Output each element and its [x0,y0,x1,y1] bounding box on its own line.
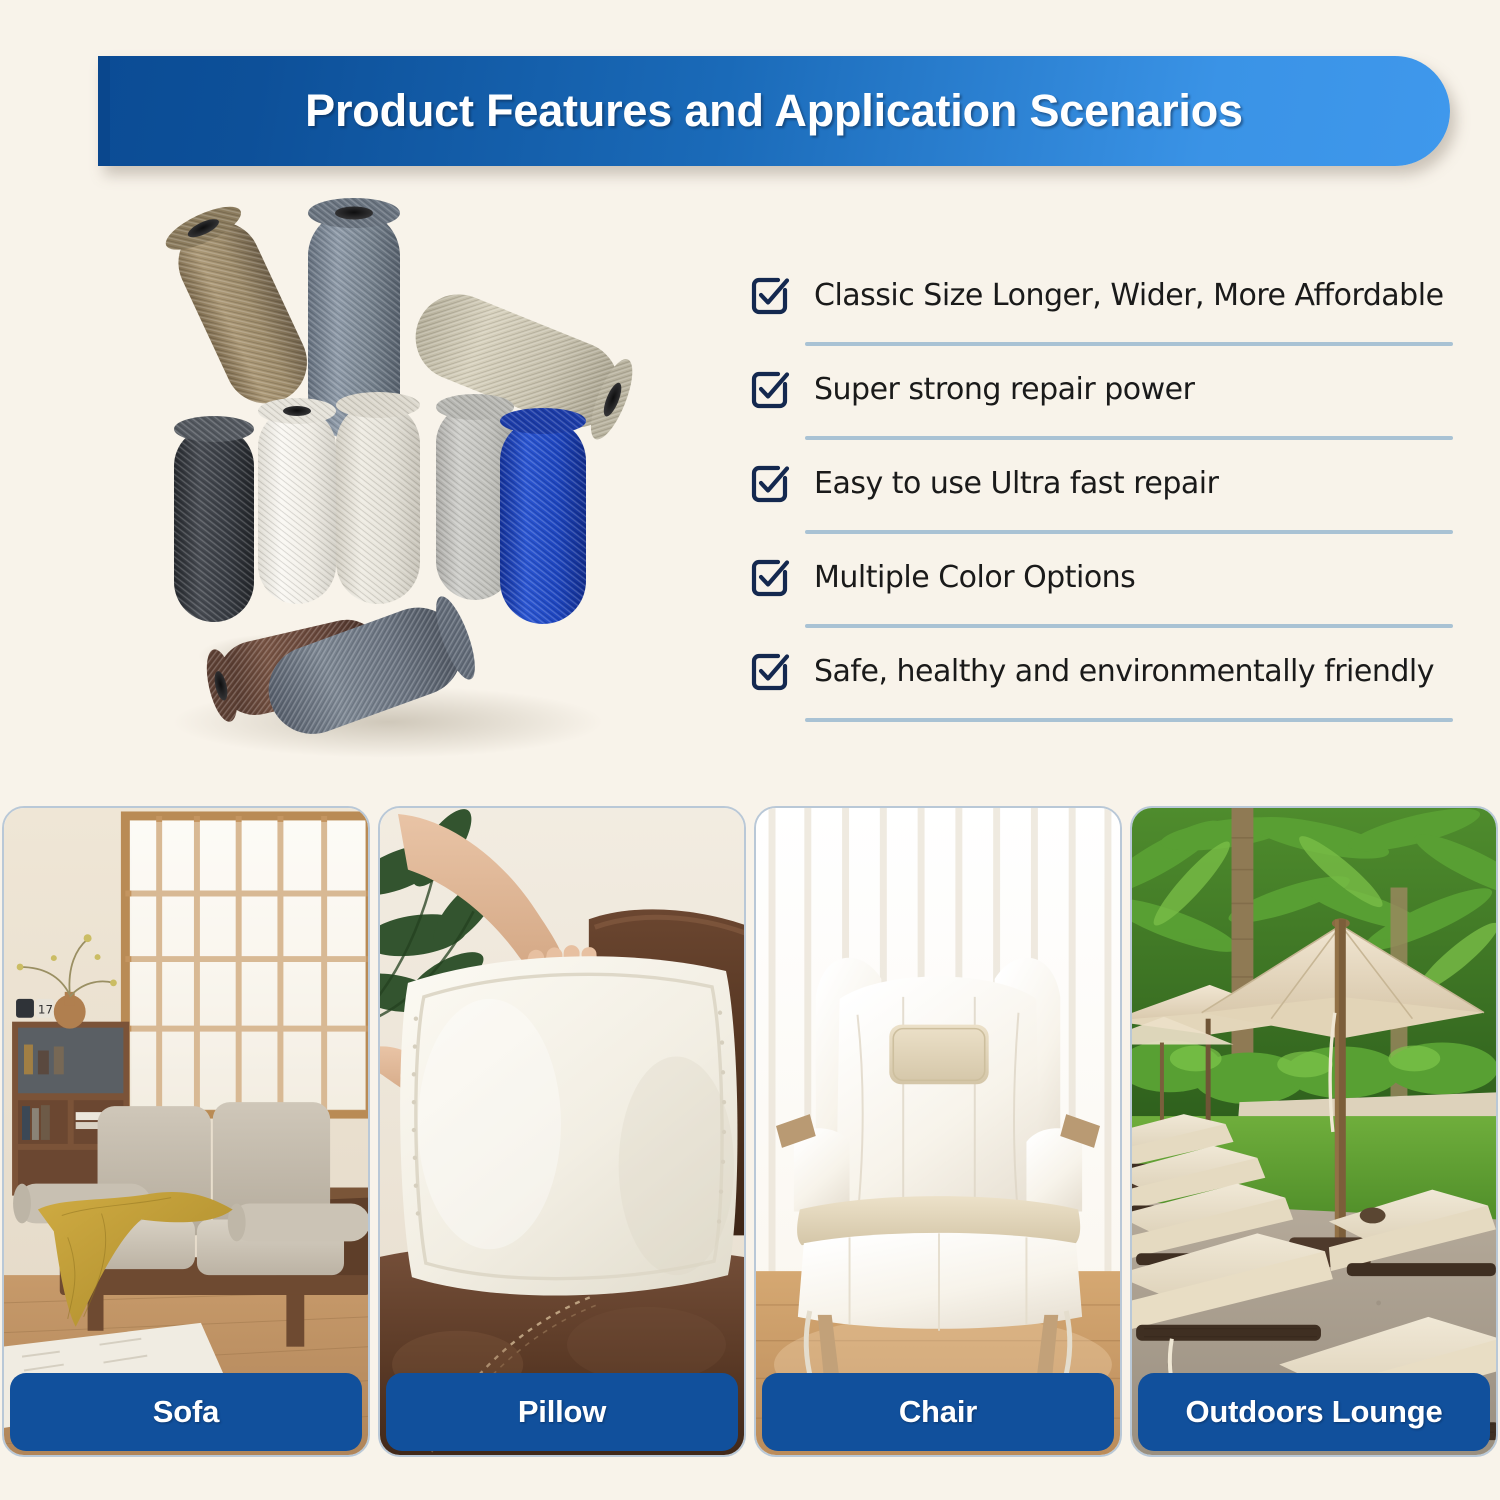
scenario-label-chair: Chair [762,1373,1114,1451]
feature-underline [805,530,1453,534]
scene-image-pillow [380,808,744,1455]
feature-label: Super strong repair power [814,372,1194,407]
feature-label: Multiple Color Options [814,560,1135,595]
scenario-label-text: Chair [899,1394,977,1430]
checkbox-check-icon [748,273,792,317]
scene-image-sofa: 17 [4,808,368,1455]
scenario-label-sofa: Sofa [10,1373,362,1451]
scene-image-outdoors-lounge [1132,808,1496,1455]
feature-underline [805,718,1453,722]
svg-text:17: 17 [38,1003,53,1017]
feature-underline [805,342,1453,346]
checkbox-check-icon [748,649,792,693]
scenario-label-pillow: Pillow [386,1373,738,1451]
feature-item-5: Safe, healthy and environmentally friend… [748,638,1454,732]
product-photo-rolls [118,186,678,766]
feature-item-2: Super strong repair power [748,356,1454,450]
scenario-label-text: Outdoors Lounge [1185,1394,1442,1430]
header-banner: Product Features and Application Scenari… [98,56,1450,166]
scenario-card-chair[interactable]: Chair [754,806,1122,1457]
scenario-label-text: Pillow [518,1394,606,1430]
scene-image-chair [756,808,1120,1455]
scenario-label-outdoors-lounge: Outdoors Lounge [1138,1373,1490,1451]
feature-item-4: Multiple Color Options [748,544,1454,638]
checkbox-check-icon [748,555,792,599]
checkbox-check-icon [748,367,792,411]
scenario-card-sofa[interactable]: 17 [2,806,370,1457]
scenario-card-pillow[interactable]: Pillow [378,806,746,1457]
banner-left-edge [98,56,110,166]
feature-label: Safe, healthy and environmentally friend… [814,654,1434,689]
feature-label: Easy to use Ultra fast repair [814,466,1218,501]
feature-list: Classic Size Longer, Wider, More Afforda… [748,262,1454,732]
scenario-card-outdoors-lounge[interactable]: Outdoors Lounge [1130,806,1498,1457]
checkbox-check-icon [748,461,792,505]
feature-label: Classic Size Longer, Wider, More Afforda… [814,278,1444,313]
scenario-card-strip: 17 [0,806,1500,1466]
page-title: Product Features and Application Scenari… [305,85,1243,137]
feature-underline [805,436,1453,440]
feature-item-1: Classic Size Longer, Wider, More Afforda… [748,262,1454,356]
scenario-label-text: Sofa [153,1394,219,1430]
feature-item-3: Easy to use Ultra fast repair [748,450,1454,544]
feature-underline [805,624,1453,628]
